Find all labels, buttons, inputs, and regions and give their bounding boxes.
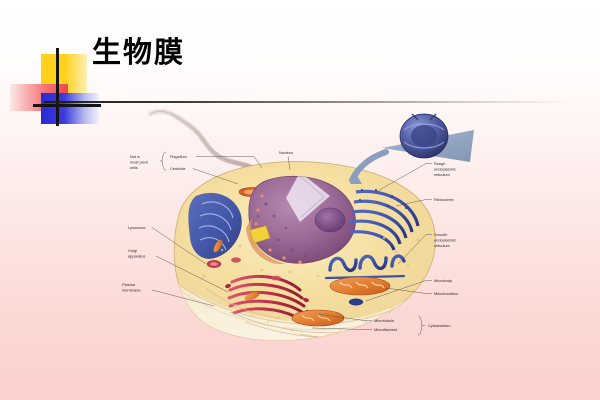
label-cytoskeleton: Cytoskeleton xyxy=(418,316,451,335)
svg-text:reticulum: reticulum xyxy=(434,172,450,177)
svg-text:Lysosome: Lysosome xyxy=(128,225,146,230)
svg-text:Golgi: Golgi xyxy=(128,248,137,253)
svg-text:Cytoskeleton: Cytoskeleton xyxy=(428,323,451,328)
svg-text:Microtubule: Microtubule xyxy=(374,318,394,323)
svg-text:membrane: membrane xyxy=(122,288,141,293)
svg-text:endoplasmic: endoplasmic xyxy=(434,238,456,243)
label-line: most plant xyxy=(130,160,149,165)
slide-canvas: 生物膜 xyxy=(0,0,600,400)
svg-text:Plasma: Plasma xyxy=(122,282,136,287)
svg-text:Smooth: Smooth xyxy=(434,232,447,237)
label-line: Not in xyxy=(130,154,140,159)
svg-text:apparatus: apparatus xyxy=(128,254,145,259)
page-title: 生物膜 xyxy=(92,38,185,67)
svg-text:Flagellum: Flagellum xyxy=(170,154,187,159)
svg-text:Microbody: Microbody xyxy=(434,278,452,283)
svg-text:Centriole: Centriole xyxy=(170,166,186,171)
svg-text:reticulum: reticulum xyxy=(434,243,450,248)
cell-diagram-svg: Not in most plant cells Flagellum Centri… xyxy=(0,100,600,360)
svg-text:Nucleus: Nucleus xyxy=(279,150,293,155)
flagellum-shape xyxy=(150,111,256,170)
svg-text:Ribosomes: Ribosomes xyxy=(434,197,454,202)
svg-text:Microfilament: Microfilament xyxy=(374,327,398,332)
label-line: cells xyxy=(130,165,138,170)
svg-text:Rough: Rough xyxy=(434,161,445,166)
mitochondrion-1 xyxy=(330,277,390,295)
svg-text:endoplasmic: endoplasmic xyxy=(434,167,456,172)
cell-diagram: Not in most plant cells Flagellum Centri… xyxy=(0,100,600,360)
mitochondrion-2 xyxy=(292,310,344,326)
svg-text:Mitochondrion: Mitochondrion xyxy=(434,291,458,296)
microbody xyxy=(349,299,363,305)
label-not-in-most-plant-cells: Not in most plant cells xyxy=(130,152,166,170)
